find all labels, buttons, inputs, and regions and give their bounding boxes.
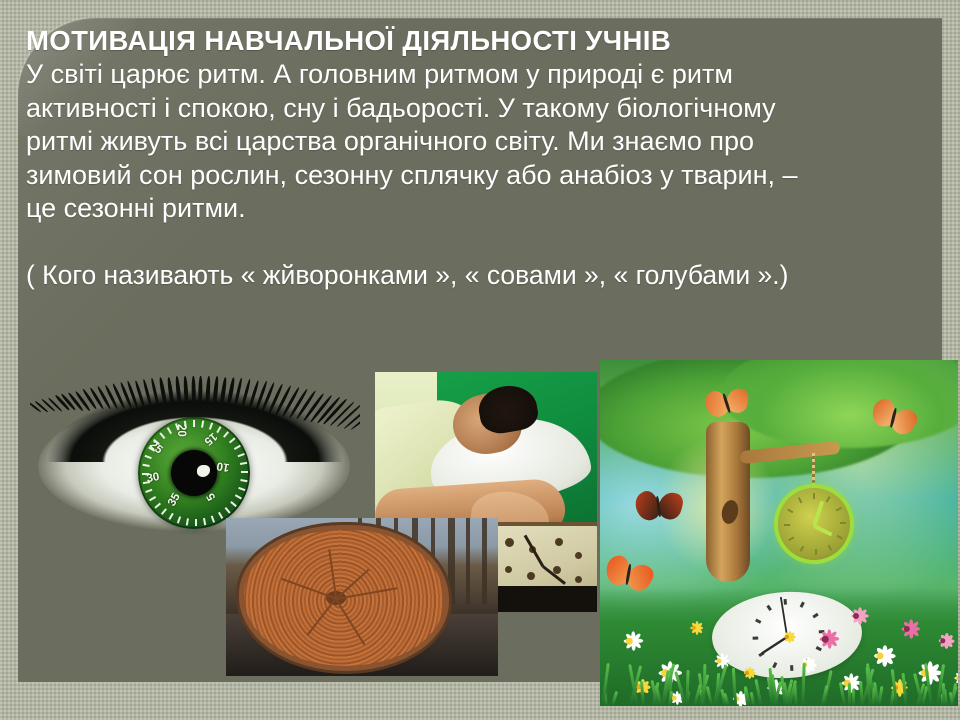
eye-dial-tick bbox=[149, 496, 156, 501]
grass-blade bbox=[847, 683, 850, 706]
body-line: активності і спокою, сну і бадьорості. У… bbox=[26, 92, 942, 126]
eye-dial-number: 35 bbox=[166, 491, 183, 508]
alarm-clock-marker bbox=[505, 538, 514, 547]
eye-dial-tick bbox=[240, 479, 247, 482]
flower-center bbox=[626, 638, 633, 645]
eye-dial-tick bbox=[225, 507, 231, 514]
ground-clock-tick bbox=[772, 662, 777, 668]
log-crack bbox=[307, 598, 337, 635]
body-line: У світі царює ритм. А головним ритмом у … bbox=[26, 58, 942, 92]
hanging-clock-tick bbox=[815, 549, 817, 555]
alarm-clock-marker bbox=[575, 552, 582, 559]
hanging-clock-tick bbox=[828, 545, 833, 551]
ground-clock-tick bbox=[766, 605, 772, 611]
hanging-clock-tick bbox=[837, 535, 843, 540]
body-line: зимовий сон рослин, сезонну сплячку або … bbox=[26, 159, 942, 193]
alarm-clock-marker bbox=[555, 538, 563, 546]
eye-dial-tick bbox=[238, 487, 245, 491]
forest-trunk bbox=[448, 518, 455, 604]
log-cross-section bbox=[244, 530, 444, 666]
eye-glint bbox=[197, 465, 210, 477]
hanging-clock bbox=[778, 488, 850, 560]
flower bbox=[618, 630, 640, 652]
hanging-clock-tick bbox=[784, 524, 790, 526]
hanging-clock-hand bbox=[812, 500, 823, 526]
hanging-clock-tick bbox=[787, 509, 793, 514]
eye-dial-tick bbox=[241, 471, 248, 473]
eye-dial-tick bbox=[142, 473, 149, 475]
eye-dial-tick bbox=[203, 518, 206, 525]
hanging-clock-tick bbox=[836, 507, 842, 512]
flower bbox=[934, 632, 952, 650]
ground-clock-tick bbox=[784, 599, 787, 605]
eye-dial-tick bbox=[195, 519, 197, 526]
paragraph-spacer bbox=[26, 226, 942, 259]
hanging-clock-tick bbox=[826, 496, 831, 502]
hanging-clock-tick bbox=[813, 493, 815, 499]
flower-center bbox=[691, 625, 696, 630]
body-paragraph: У світі царює ритм. А головним ритмом у … bbox=[26, 58, 942, 226]
eye-dial-tick bbox=[230, 501, 237, 507]
flower bbox=[846, 606, 866, 626]
flower-center bbox=[956, 676, 958, 681]
image-tree-rings-log bbox=[226, 518, 498, 676]
alarm-clock-marker bbox=[575, 576, 582, 583]
hanging-clock-tick bbox=[798, 497, 803, 503]
eye-dial-tick bbox=[145, 489, 152, 493]
body-line: це сезонні ритми. bbox=[26, 192, 942, 226]
ground-clock-tick bbox=[800, 601, 805, 607]
eye-dial-tick bbox=[240, 462, 247, 465]
page-title: МОТИВАЦІЯ НАВЧАЛЬНОЇ ДІЯЛЬНОСТІ УЧНІВ bbox=[26, 24, 942, 58]
hanging-clock-tick bbox=[840, 522, 846, 524]
butterfly bbox=[634, 487, 684, 525]
eye-dial-tick bbox=[211, 516, 215, 523]
eye-dial-tick bbox=[186, 518, 189, 525]
log-crack bbox=[281, 578, 336, 599]
question-paragraph: ( Кого називають « жйворонками », « сова… bbox=[26, 259, 942, 292]
flower bbox=[740, 666, 754, 680]
body-line: ритмі живуть всі царства органічного сві… bbox=[26, 125, 942, 159]
ground-clock-tick bbox=[790, 665, 793, 671]
flower-center bbox=[822, 636, 829, 643]
eye-dial-tick bbox=[235, 494, 242, 499]
flower bbox=[686, 620, 701, 635]
hanging-clock-tick bbox=[800, 546, 805, 552]
eye-dial-number: 5 bbox=[205, 491, 219, 503]
log-crack bbox=[335, 598, 365, 645]
eye-dial-tick bbox=[161, 508, 167, 515]
ground-clock-tick bbox=[755, 619, 761, 624]
forest-trunk bbox=[482, 518, 487, 604]
hanging-clock-hand bbox=[813, 524, 833, 536]
eye-lash bbox=[191, 376, 195, 408]
eye-dial-tick bbox=[142, 464, 149, 467]
flower bbox=[780, 630, 794, 644]
alarm-clock-marker bbox=[505, 566, 512, 573]
hanging-clock-tick bbox=[788, 537, 794, 542]
flower-center bbox=[853, 613, 859, 619]
eye-dial-tick bbox=[218, 512, 223, 519]
alarm-clock-marker bbox=[527, 572, 535, 580]
clock-chain bbox=[812, 453, 815, 491]
eye-dial-tick bbox=[177, 516, 181, 523]
ground-clock-tick bbox=[812, 613, 818, 619]
flower bbox=[896, 618, 917, 639]
image-nature-tree-clock-butterflies bbox=[600, 360, 958, 706]
eye-dial-tick bbox=[169, 513, 174, 520]
slide-root: МОТИВАЦІЯ НАВЧАЛЬНОЇ ДІЯЛЬНОСТІ УЧНІВ У … bbox=[0, 0, 960, 720]
flower bbox=[814, 628, 836, 650]
alarm-clock-hand bbox=[524, 535, 545, 568]
forest-trunk bbox=[466, 518, 470, 604]
eye-dial-tick bbox=[154, 503, 161, 509]
slide-text-block: МОТИВАЦІЯ НАВЧАЛЬНОЇ ДІЯЛЬНОСТІ УЧНІВ У … bbox=[26, 24, 942, 292]
flower bbox=[868, 644, 892, 668]
ground-clock-tick bbox=[753, 637, 759, 640]
